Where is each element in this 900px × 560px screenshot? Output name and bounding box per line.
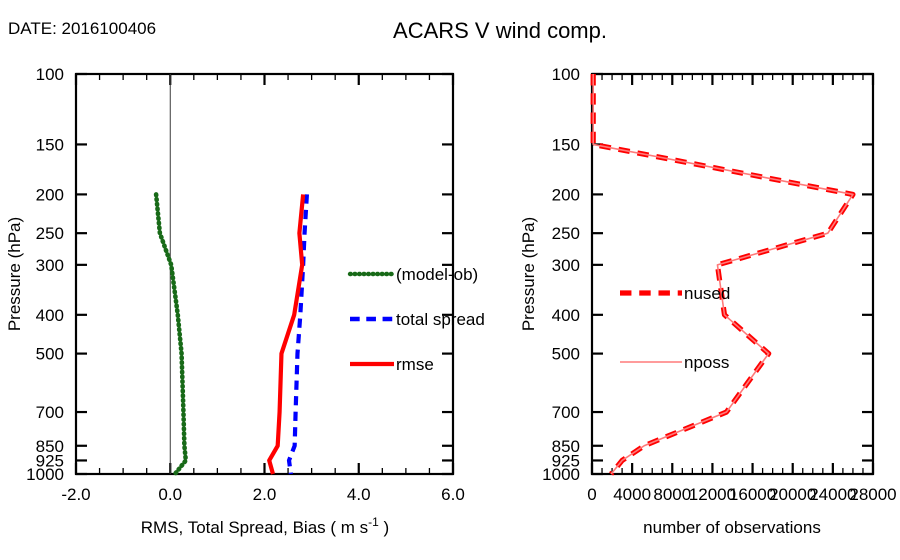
right-panel-observation-counts: 0400080001200016000200002400028000100150… <box>519 65 897 537</box>
x-axis-label: number of observations <box>643 518 821 537</box>
y-axis-label: Pressure (hPa) <box>519 217 538 331</box>
left-panel-rms-spread-bias: -2.00.02.04.06.0100150200250300400500700… <box>5 65 485 537</box>
y-tick-label: 1000 <box>26 465 64 484</box>
x-axis-label: RMS, Total Spread, Bias ( m s-1 ) <box>141 515 389 537</box>
x-tick-label: 8000 <box>653 485 691 504</box>
legend-label: total spread <box>396 310 485 329</box>
legend-label: rmse <box>396 355 434 374</box>
y-tick-label: 150 <box>552 135 580 154</box>
x-tick-label: 0 <box>587 485 596 504</box>
x-tick-label: -2.0 <box>61 485 90 504</box>
y-tick-label: 200 <box>36 185 64 204</box>
legend-label: (model-ob) <box>396 265 478 284</box>
y-tick-label: 250 <box>36 224 64 243</box>
y-tick-label: 200 <box>552 185 580 204</box>
y-tick-label: 400 <box>36 306 64 325</box>
x-tick-label: 6.0 <box>441 485 465 504</box>
x-tick-label: 28000 <box>849 485 896 504</box>
y-axis-label: Pressure (hPa) <box>5 217 24 331</box>
y-tick-label: 1000 <box>542 465 580 484</box>
x-axis-label-exponent: -1 <box>368 515 379 529</box>
y-tick-label: 400 <box>552 306 580 325</box>
y-tick-label: 500 <box>36 345 64 364</box>
y-tick-label: 100 <box>36 65 64 84</box>
y-tick-label: 500 <box>552 345 580 364</box>
series-line--model-ob- <box>156 194 186 474</box>
date-label: DATE: 2016100406 <box>8 19 156 38</box>
y-tick-label: 700 <box>552 403 580 422</box>
y-tick-label: 700 <box>36 403 64 422</box>
plot-frame <box>592 74 873 474</box>
x-tick-label: 4000 <box>613 485 651 504</box>
x-axis-label-tail: ) <box>379 518 389 537</box>
y-tick-label: 300 <box>552 256 580 275</box>
figure-canvas: DATE: 2016100406 ACARS V wind comp. -2.0… <box>0 0 900 560</box>
x-tick-label: 0.0 <box>158 485 182 504</box>
chart-title: ACARS V wind comp. <box>393 18 607 43</box>
plot-page: DATE: 2016100406 ACARS V wind comp. -2.0… <box>0 0 900 560</box>
series-line-nposs <box>593 74 853 474</box>
x-tick-label: 4.0 <box>347 485 371 504</box>
y-tick-label: 300 <box>36 256 64 275</box>
y-tick-label: 150 <box>36 135 64 154</box>
x-tick-label: 2.0 <box>253 485 277 504</box>
legend-label: nposs <box>684 353 729 372</box>
x-axis-label-main: RMS, Total Spread, Bias ( m s <box>141 518 368 537</box>
y-tick-label: 100 <box>552 65 580 84</box>
y-tick-label: 250 <box>552 224 580 243</box>
legend-label: nused <box>684 284 730 303</box>
